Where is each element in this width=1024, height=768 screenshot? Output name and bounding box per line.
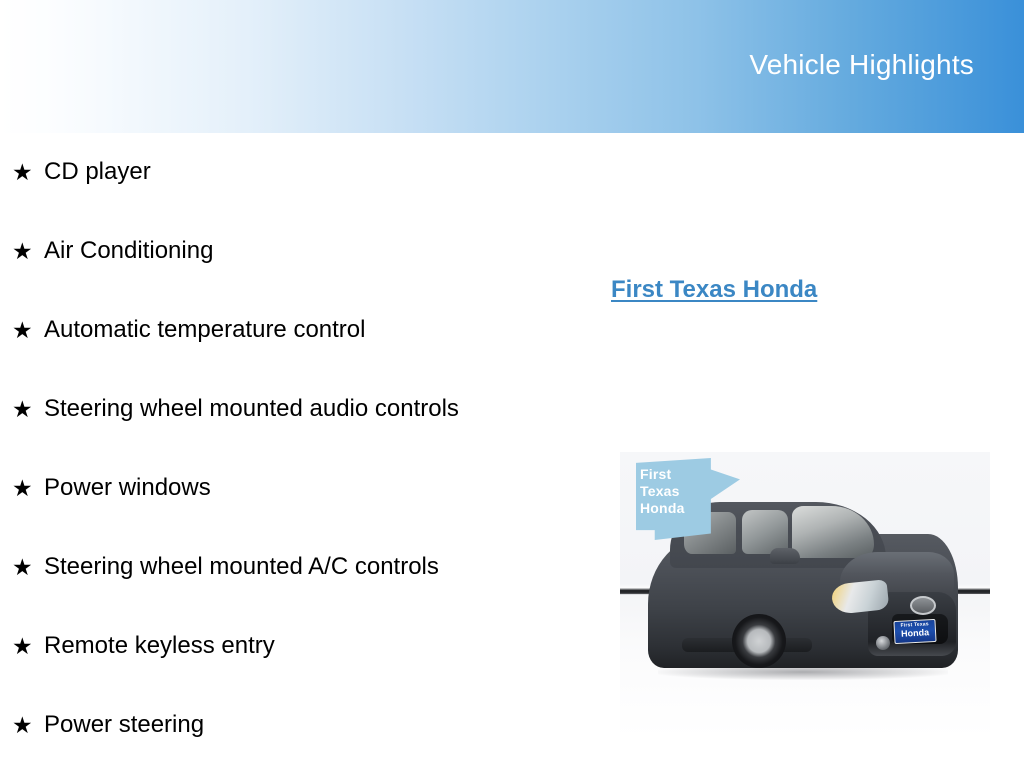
- highlight-label: CD player: [44, 160, 151, 184]
- license-plate-main-text: Honda: [895, 627, 935, 639]
- header-banner: Vehicle Highlights: [0, 0, 1024, 133]
- list-item: ★ Steering wheel mounted audio controls: [12, 393, 459, 425]
- list-item: ★ Remote keyless entry: [12, 630, 275, 662]
- star-icon: ★: [12, 714, 44, 737]
- dealer-name-link[interactable]: First Texas Honda: [611, 276, 817, 304]
- star-icon: ★: [12, 398, 44, 421]
- list-item: ★ Power windows: [12, 472, 211, 504]
- car-headlight: [831, 579, 890, 615]
- vehicle-photo[interactable]: First Texas Honda FirstTexasHonda: [620, 452, 990, 739]
- highlight-label: Remote keyless entry: [44, 634, 275, 658]
- dealer-watermark-text: FirstTexasHonda: [640, 466, 714, 517]
- dealer-license-plate: First Texas Honda: [893, 619, 936, 644]
- star-icon: ★: [12, 556, 44, 579]
- list-item: ★ Steering wheel mounted A/C controls: [12, 551, 439, 583]
- page-title: Vehicle Highlights: [749, 49, 974, 81]
- star-icon: ★: [12, 477, 44, 500]
- highlight-label: Steering wheel mounted A/C controls: [44, 555, 439, 579]
- car-side-mirror: [770, 548, 800, 564]
- car-fog-light: [876, 636, 890, 650]
- star-icon: ★: [12, 161, 44, 184]
- car-front-wheel: [732, 614, 786, 668]
- list-item: ★ Air Conditioning: [12, 235, 213, 267]
- list-item: ★ Power steering: [12, 709, 204, 741]
- star-icon: ★: [12, 319, 44, 342]
- star-icon: ★: [12, 240, 44, 263]
- toyota-emblem-icon: [910, 596, 936, 615]
- highlight-label: Steering wheel mounted audio controls: [44, 397, 459, 421]
- highlight-label: Air Conditioning: [44, 239, 213, 263]
- star-icon: ★: [12, 635, 44, 658]
- highlight-label: Automatic temperature control: [44, 318, 365, 342]
- highlight-label: Power steering: [44, 713, 204, 737]
- car-windshield: [792, 506, 874, 558]
- list-item: ★ CD player: [12, 156, 151, 188]
- list-item: ★ Automatic temperature control: [12, 314, 365, 346]
- highlight-label: Power windows: [44, 476, 211, 500]
